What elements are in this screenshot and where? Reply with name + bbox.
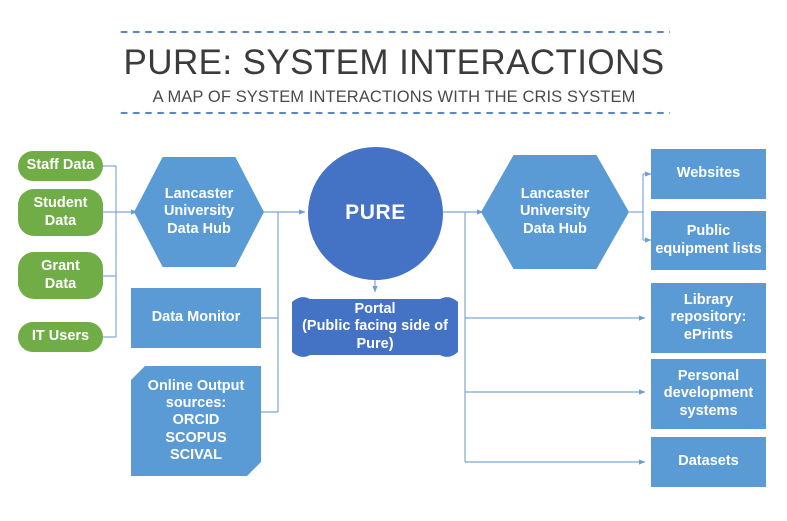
- portal-label-line2: (Public facing side of: [302, 318, 448, 335]
- hub-left-label-line1: Lancaster: [134, 186, 264, 203]
- source-student-data-label-line2: Data: [22, 213, 99, 230]
- output-personal-development-systems[interactable]: Personal development systems: [651, 359, 766, 429]
- output-websites-label: Websites: [655, 165, 762, 182]
- lancaster-data-hub-right[interactable]: Lancaster University Data Hub: [481, 155, 629, 269]
- hub-left-label-line2: University: [134, 203, 264, 220]
- data-monitor[interactable]: Data Monitor: [131, 288, 261, 348]
- source-it-users[interactable]: IT Users: [18, 322, 103, 352]
- hub-right-label-line1: Lancaster: [481, 186, 629, 203]
- output-public-equipment-lists-line1: Public: [655, 223, 762, 240]
- output-datasets-label: Datasets: [655, 453, 762, 470]
- online-output-label-line5: SCIVAL: [135, 447, 257, 464]
- online-output-sources[interactable]: Online Output sources: ORCID SCOPUS SCIV…: [131, 366, 261, 476]
- source-grant-data[interactable]: Grant Data: [18, 252, 103, 299]
- portal-label-group: Portal (Public facing side of Pure): [292, 294, 458, 360]
- pure-core-label: PURE: [308, 201, 443, 226]
- diagram-canvas: PURE: SYSTEM INTERACTIONS A MAP OF SYSTE…: [0, 0, 787, 521]
- output-public-equipment-lists-line2: equipment lists: [655, 241, 762, 258]
- output-personal-development-line2: development: [655, 385, 762, 402]
- data-monitor-label: Data Monitor: [135, 309, 257, 326]
- title-block: PURE: SYSTEM INTERACTIONS A MAP OF SYSTE…: [118, 26, 670, 122]
- output-datasets[interactable]: Datasets: [651, 437, 766, 487]
- output-library-repository-line1: Library: [655, 292, 762, 309]
- output-personal-development-line1: Personal: [655, 368, 762, 385]
- hub-left-label-line3: Data Hub: [134, 221, 264, 238]
- output-public-equipment-lists[interactable]: Public equipment lists: [651, 211, 766, 270]
- source-staff-data-label: Staff Data: [22, 157, 99, 174]
- online-output-label-line2: sources:: [135, 395, 257, 412]
- page-title: PURE: SYSTEM INTERACTIONS: [118, 43, 670, 83]
- output-websites[interactable]: Websites: [651, 149, 766, 199]
- source-student-data[interactable]: Student Data: [18, 189, 103, 236]
- portal[interactable]: Portal (Public facing side of Pure): [292, 294, 458, 360]
- online-output-label-line3: ORCID: [135, 412, 257, 429]
- source-grant-data-label-line1: Grant: [22, 258, 99, 275]
- source-it-users-label: IT Users: [22, 328, 99, 345]
- online-output-label-line4: SCOPUS: [135, 430, 257, 447]
- page-subtitle: A MAP OF SYSTEM INTERACTIONS WITH THE CR…: [118, 88, 670, 107]
- source-staff-data[interactable]: Staff Data: [18, 151, 103, 181]
- source-grant-data-label-line2: Data: [22, 276, 99, 293]
- output-library-repository-line3: ePrints: [655, 327, 762, 344]
- source-student-data-label-line1: Student: [22, 195, 99, 212]
- lancaster-data-hub-left[interactable]: Lancaster University Data Hub: [134, 157, 264, 267]
- online-output-label-line1: Online Output: [135, 378, 257, 395]
- output-personal-development-line3: systems: [655, 403, 762, 420]
- output-library-repository[interactable]: Library repository: ePrints: [651, 283, 766, 353]
- hub-right-label-line3: Data Hub: [481, 221, 629, 238]
- pure-core[interactable]: PURE: [308, 147, 443, 280]
- dotted-rule-bottom: [118, 111, 670, 115]
- portal-label-line3: Pure): [356, 336, 393, 353]
- dotted-rule-top: [118, 30, 670, 34]
- hub-right-label-line2: University: [481, 203, 629, 220]
- portal-label-line1: Portal: [354, 301, 395, 318]
- output-library-repository-line2: repository:: [655, 309, 762, 326]
